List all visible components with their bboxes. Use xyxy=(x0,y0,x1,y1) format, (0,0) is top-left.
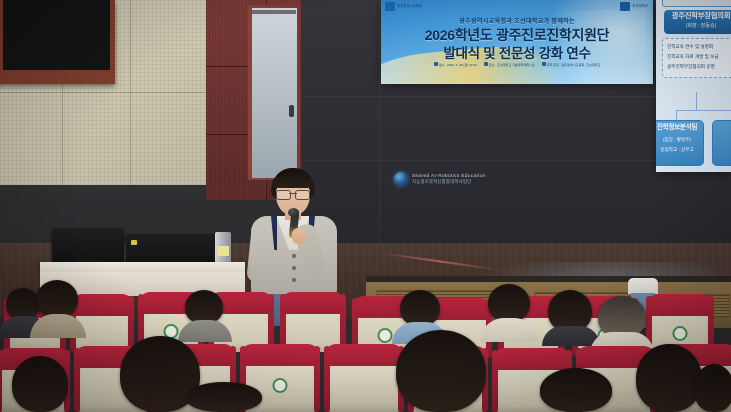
attendee-shoulders xyxy=(542,326,600,346)
chosun-university-logo: 조선대학교 xyxy=(620,2,648,11)
auditorium-photo: 광주광역시교육청 조선대학교 광주광역시교육청과 조선대학교가 함께하는 202… xyxy=(0,0,731,412)
footer-date: 일시 : 2025. 4. 25.(금) 09:30 xyxy=(439,63,477,67)
glasses-lens-left xyxy=(276,190,291,200)
door-closer xyxy=(252,10,296,14)
standing-attendee-shirt xyxy=(628,278,658,294)
org-chart-connector-drop xyxy=(676,110,677,120)
presenter-hand xyxy=(292,228,306,244)
attendee-head xyxy=(636,344,702,412)
watermark-korean: 지능형로봇학신통합대학사업단 xyxy=(412,179,486,185)
org-chart-main-box: 광주진학부장협의회 (회장 : 장동승) xyxy=(664,10,731,34)
host-icon xyxy=(542,62,546,66)
org-chart-sub-box xyxy=(712,120,731,166)
org-chart-main-title: 광주진학부장협의회 xyxy=(664,10,731,22)
seat-number-tag xyxy=(273,378,288,393)
seat[interactable] xyxy=(328,348,400,412)
monitor-label-badge xyxy=(131,240,137,245)
screen-logo-row: 광주광역시교육청 조선대학교 xyxy=(381,2,653,15)
logo-left-label: 광주광역시교육청 xyxy=(397,5,422,9)
wall-board-surface xyxy=(3,0,110,70)
main-projection-screen: 광주광역시교육청 조선대학교 광주광역시교육청과 조선대학교가 함께하는 202… xyxy=(381,0,653,84)
screen-watermark-logo: Shared AI-Robotics Education 지능형로봇학신통합대학… xyxy=(394,171,506,187)
org-chart-main-subtitle: (회장 : 장동승) xyxy=(664,22,731,31)
glasses-lens-right xyxy=(295,190,310,200)
org-chart-bullet: 광주진학부장협의회 운영 xyxy=(667,62,731,72)
gwangju-education-office-logo: 광주광역시교육청 xyxy=(385,2,422,11)
cardigan-button xyxy=(292,278,296,282)
secondary-projection-screen: 광주진학부장협의회 (회장 : 장동승) 진학교육 연수 및 설명회 진학교육 … xyxy=(656,0,731,172)
wall-board-frame xyxy=(0,0,115,84)
attendee-head xyxy=(540,368,612,412)
logo-right-label: 조선대학교 xyxy=(632,5,648,9)
calendar-icon xyxy=(434,62,438,66)
org-chart-connector-horizontal xyxy=(676,110,731,111)
glasses-bridge xyxy=(289,193,297,194)
door-leaf[interactable] xyxy=(252,8,297,178)
location-icon xyxy=(484,62,488,66)
attendee-head xyxy=(694,364,731,412)
equipment-label xyxy=(217,246,229,256)
door-handle-icon[interactable] xyxy=(289,105,294,117)
watermark-text: Shared AI-Robotics Education 지능형로봇학신통합대학… xyxy=(412,173,486,184)
footer-host: 주최·주관 : 광주광역시교육청, 조선대학교 xyxy=(546,63,600,67)
org-chart-sub-leader: (팀장 : 황정주) xyxy=(656,135,703,145)
footer-item: 주최·주관 : 광주광역시교육청, 조선대학교 xyxy=(542,62,601,67)
footer-item: 장소 : 조선대학교 기본과학대학 1관 xyxy=(484,62,535,67)
seat-number-tag xyxy=(673,326,688,341)
attendee-head xyxy=(186,382,262,412)
footer-location: 장소 : 조선대학교 기본과학대학 1관 xyxy=(489,63,535,67)
logo-mark-icon xyxy=(385,2,395,11)
slide-footer-details: 일시 : 2025. 4. 25.(금) 09:30 장소 : 조선대학교 기본… xyxy=(381,62,653,67)
org-chart-sub-school: 중점학교 : 상무고 xyxy=(656,145,703,155)
slide-title-line-2: 발대식 및 전문성 강화 연수 xyxy=(381,42,653,62)
logo-mark-icon xyxy=(620,2,630,11)
presenter-fringe xyxy=(272,174,314,188)
org-chart-sub-name: 진학정보분석팀 xyxy=(656,121,703,135)
attendee-head xyxy=(185,290,223,324)
globe-icon xyxy=(394,172,408,186)
org-chart-top-connector xyxy=(662,0,731,7)
org-chart-bullet: 진학교육 자료 개발 및 보급 xyxy=(667,52,731,62)
seat-number-tag xyxy=(378,328,393,343)
org-chart-connector-vertical xyxy=(696,92,697,110)
attendee-head xyxy=(400,290,440,326)
glasses-icon xyxy=(276,190,310,198)
attendee-head xyxy=(12,356,68,412)
org-chart-bullet: 진학교육 연수 및 설명회 xyxy=(667,42,731,52)
cardigan-button xyxy=(292,254,296,258)
presenter-desk-top xyxy=(40,262,245,272)
footer-item: 일시 : 2025. 4. 25.(금) 09:30 xyxy=(434,62,477,67)
org-chart-sub-box: 진학정보분석팀 (팀장 : 황정주) 중점학교 : 상무고 xyxy=(656,120,704,166)
org-chart-bullet-list: 진학교육 연수 및 설명회 진학교육 자료 개발 및 보급 광주진학부장협의회 … xyxy=(662,38,731,78)
attendee-head xyxy=(396,330,486,412)
slide-subtitle: 광주광역시교육청과 조선대학교가 함께하는 xyxy=(381,16,653,25)
cardigan-button xyxy=(292,266,296,270)
attendee-head xyxy=(488,284,530,322)
attendee-head xyxy=(36,280,78,318)
microphone-icon xyxy=(288,208,299,217)
